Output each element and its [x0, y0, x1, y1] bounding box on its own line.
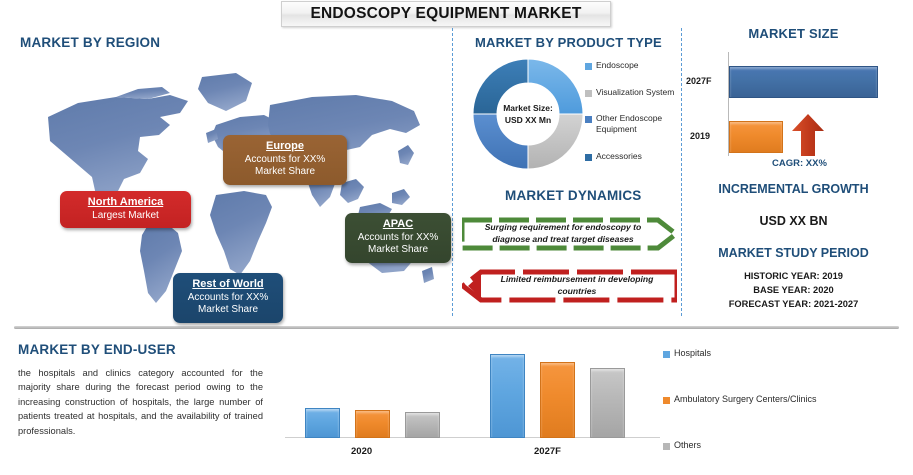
map-pin-title: Europe [231, 140, 339, 154]
market-driver-text: Surging requirement for endoscopy to dia… [470, 222, 656, 245]
end-user-bar-chart: 2020 2027F [285, 345, 660, 460]
end-user-bar-2020-others[interactable] [405, 412, 440, 438]
end-user-tick-2020: 2020 [351, 446, 372, 457]
donut-center-line2: USD XX Mn [505, 115, 551, 125]
market-size-heading: MARKET SIZE [686, 26, 901, 41]
end-user-bar-2027f-others[interactable] [590, 368, 625, 438]
end-user-bar-2020-ambulatory[interactable] [355, 410, 390, 438]
market-by-region-heading: MARKET BY REGION [20, 35, 160, 50]
market-dynamics-heading: MARKET DYNAMICS [505, 188, 642, 203]
market-by-product-type-heading: MARKET BY PRODUCT TYPE [475, 35, 662, 50]
page-title-text: ENDOSCOPY EQUIPMENT MARKET [310, 5, 581, 23]
legend-item-other-endoscope-equipment[interactable]: Other Endoscope Equipment [585, 113, 690, 134]
vertical-divider-left [452, 28, 453, 316]
legend-swatch-icon [585, 90, 592, 97]
market-size-bar-2019[interactable] [729, 121, 783, 153]
market-restraint-text: Limited reimbursement in developing coun… [484, 274, 670, 297]
legend-item-accessories[interactable]: Accessories [585, 151, 690, 162]
map-pin-apac[interactable]: APAC Accounts for XX% Market Share [345, 213, 451, 263]
legend-label: Endoscope [596, 60, 639, 71]
legend-label: Other Endoscope Equipment [596, 113, 690, 134]
product-type-donut-chart: Market Size: USD XX Mn [468, 55, 588, 173]
incremental-growth-heading: INCREMENTAL GROWTH [686, 182, 901, 196]
market-study-period-heading: MARKET STUDY PERIOD [686, 246, 901, 260]
end-user-bar-2027f-ambulatory[interactable] [540, 362, 575, 438]
map-pin-title: Rest of World [181, 278, 275, 292]
legend-label: Others [674, 440, 701, 450]
legend-label: Visualization System [596, 87, 674, 98]
product-type-legend: Endoscope Visualization System Other End… [585, 60, 690, 161]
map-pin-sub: Market Share [353, 244, 443, 257]
end-user-tick-2027f: 2027F [534, 446, 561, 457]
map-pin-north-america[interactable]: North America Largest Market [60, 191, 191, 228]
legend-item-visualization-system[interactable]: Visualization System [585, 87, 690, 98]
incremental-growth-value: USD XX BN [686, 214, 901, 228]
map-pin-sub: Largest Market [68, 210, 183, 223]
end-user-bar-2027f-hospitals[interactable] [490, 354, 525, 438]
legend-item-hospitals[interactable]: Hospitals [663, 348, 903, 358]
world-map: North America Largest Market Europe Acco… [20, 55, 440, 305]
legend-swatch-icon [585, 116, 592, 123]
infographic-page: ENDOSCOPY EQUIPMENT MARKET MARKET BY REG… [0, 0, 913, 475]
market-size-bar-2027f[interactable] [729, 66, 878, 98]
market-size-tick-2027f: 2027F [686, 76, 712, 86]
cagr-label: CAGR: XX% [772, 158, 827, 169]
page-title: ENDOSCOPY EQUIPMENT MARKET [281, 1, 611, 27]
legend-label: Hospitals [674, 348, 711, 358]
market-driver-arrow: Surging requirement for endoscopy to dia… [462, 214, 677, 254]
legend-item-endoscope[interactable]: Endoscope [585, 60, 690, 71]
end-user-legend: Hospitals Ambulatory Surgery Centers/Cli… [663, 348, 903, 450]
study-period-base-year: BASE YEAR: 2020 [686, 284, 901, 298]
study-period-historic-year: HISTORIC YEAR: 2019 [686, 270, 901, 284]
map-pin-rest-of-world[interactable]: Rest of World Accounts for XX% Market Sh… [173, 273, 283, 323]
map-pin-sub: Accounts for XX% [181, 292, 275, 305]
cagr-up-arrow-icon [791, 114, 825, 156]
map-pin-sub: Market Share [181, 304, 275, 317]
legend-item-others[interactable]: Others [663, 440, 903, 450]
map-pin-title: North America [68, 196, 183, 210]
end-user-bar-2020-hospitals[interactable] [305, 408, 340, 438]
horizontal-divider [14, 326, 899, 329]
legend-swatch-icon [585, 154, 592, 161]
market-size-bar-chart: 2027F 2019 CAGR: XX% [686, 52, 901, 170]
legend-label: Ambulatory Surgery Centers/Clinics [674, 394, 817, 404]
end-user-paragraph: the hospitals and clinics category accou… [18, 366, 263, 438]
donut-center-line1: Market Size: [503, 103, 553, 113]
map-pin-sub: Accounts for XX% [231, 154, 339, 167]
map-pin-title: APAC [353, 218, 443, 232]
map-pin-sub: Accounts for XX% [353, 232, 443, 245]
legend-swatch-icon [663, 443, 670, 450]
donut-svg: Market Size: USD XX Mn [468, 55, 588, 173]
legend-label: Accessories [596, 151, 642, 162]
map-pin-europe[interactable]: Europe Accounts for XX% Market Share [223, 135, 347, 185]
market-restraint-arrow: Limited reimbursement in developing coun… [462, 266, 677, 306]
market-size-tick-2019: 2019 [690, 131, 710, 141]
legend-item-ambulatory-surgery-centers[interactable]: Ambulatory Surgery Centers/Clinics [663, 394, 903, 404]
legend-swatch-icon [663, 397, 670, 404]
market-by-end-user-heading: MARKET BY END-USER [18, 342, 176, 357]
map-landmasses [48, 73, 434, 303]
study-period-forecast-year: FORECAST YEAR: 2021-2027 [686, 298, 901, 312]
map-pin-sub: Market Share [231, 166, 339, 179]
legend-swatch-icon [585, 63, 592, 70]
legend-swatch-icon [663, 351, 670, 358]
donut-segments [473, 59, 583, 169]
